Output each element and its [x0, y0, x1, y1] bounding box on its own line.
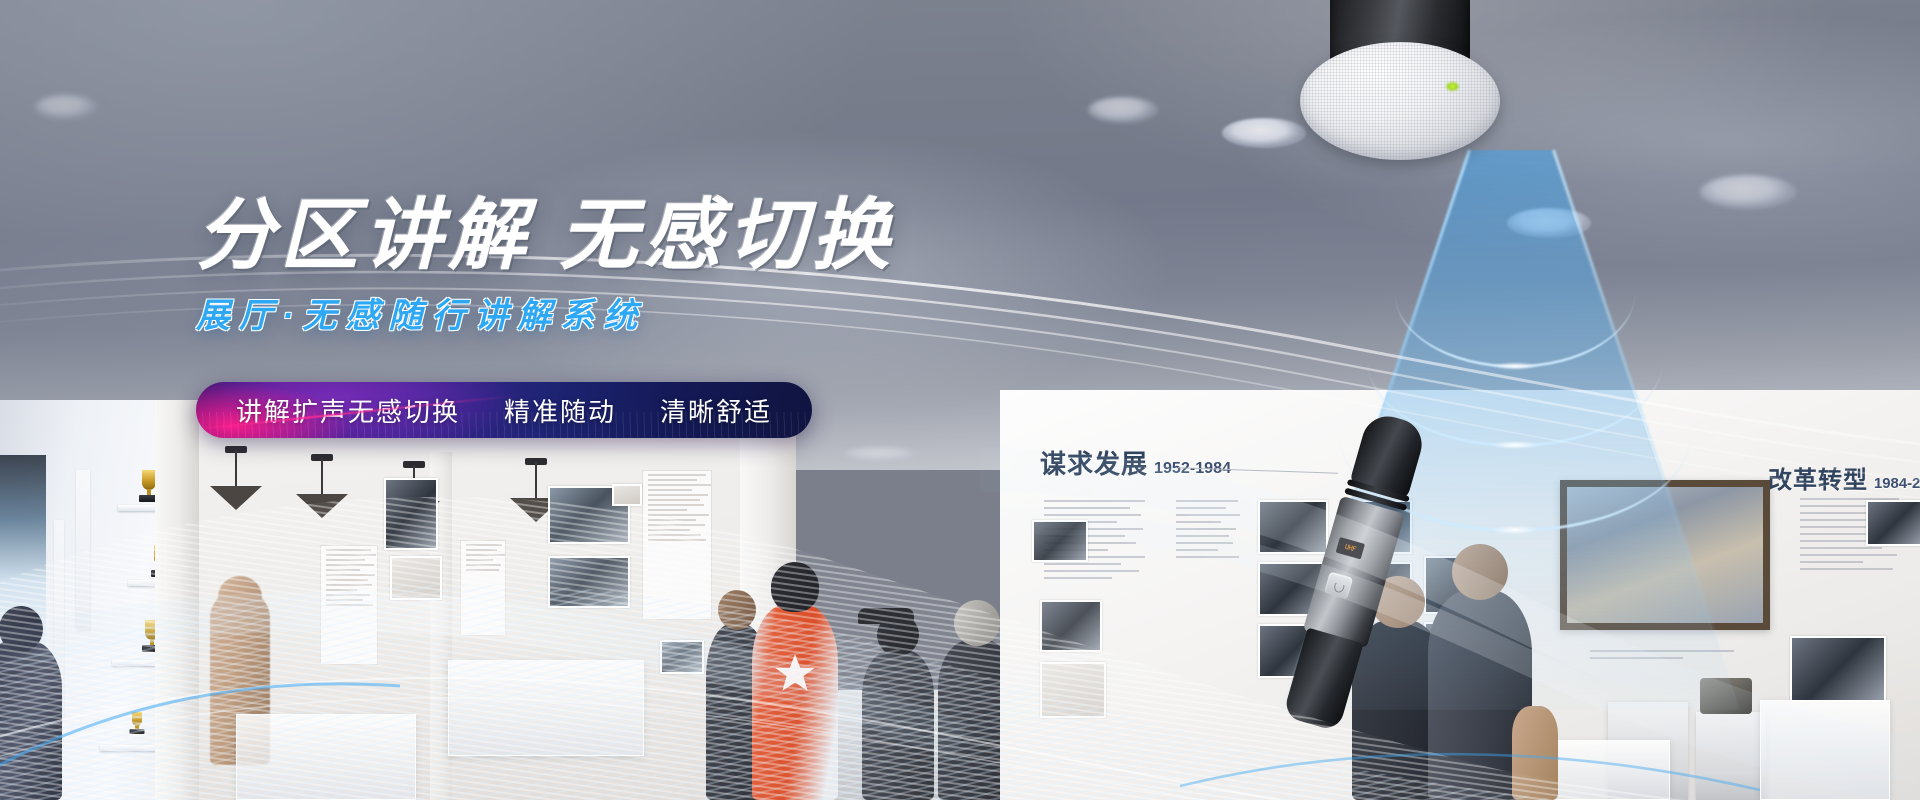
mic-handle — [1282, 628, 1363, 732]
pendant-lamp-icon — [296, 458, 348, 520]
exhibit-years-text: 1984-2010 — [1874, 476, 1920, 492]
display-case — [236, 714, 416, 800]
exhibit-photo — [612, 484, 642, 506]
exhibit-photo — [548, 556, 630, 608]
exhibit-section-title-2: 改革转型1984-2010 — [1768, 460, 1920, 495]
pendant-lamp-icon — [210, 450, 262, 512]
hero-copy: 分区讲解 无感切换 展厅·无感随行讲解系统 — [196, 196, 1096, 337]
page-title: 分区讲解 无感切换 — [196, 196, 1096, 274]
exhibit-photo — [1040, 662, 1106, 718]
exhibit-portrait — [384, 478, 438, 550]
exhibit-photo — [1040, 600, 1102, 652]
mic-body — [1303, 496, 1405, 649]
exhibit-photo — [1790, 636, 1886, 702]
speaker-grill — [1300, 42, 1500, 160]
display-case — [448, 660, 644, 756]
exhibit-section-title-1: 谋求发展1952-1984 — [1040, 444, 1231, 481]
ceiling-speaker-icon — [1300, 0, 1500, 164]
feature-item-1: 讲解扩声无感切换 — [236, 392, 460, 429]
speaker-status-led — [1446, 82, 1459, 91]
visitor-silhouette — [862, 650, 934, 800]
exhibit-photo — [390, 556, 442, 600]
hero-banner: 谋求发展1952-1984 改革转型1984-2010 — [0, 0, 1920, 800]
exhibit-photo — [660, 640, 704, 674]
shelf-divider — [76, 470, 90, 630]
exhibit-panel — [460, 540, 506, 636]
visitor-silhouette — [1512, 706, 1558, 800]
hall-pillar — [155, 400, 199, 800]
exhibit-panel — [320, 545, 378, 665]
exhibit-plinth — [1696, 712, 1766, 800]
exhibit-title-text: 改革转型 — [1768, 467, 1868, 494]
exhibit-textblock — [1176, 500, 1246, 563]
visitor-red-vest — [752, 604, 838, 800]
feature-item-3: 清晰舒适 — [660, 392, 772, 429]
star-logo-icon — [774, 652, 816, 694]
exhibit-title-text: 谋求发展 — [1040, 449, 1148, 479]
trophy-icon — [128, 712, 146, 744]
exhibit-photo — [1032, 520, 1088, 562]
exhibit-photo — [1866, 500, 1920, 546]
visitor-silhouette — [0, 640, 62, 800]
page-subtitle: 展厅·无感随行讲解系统 — [196, 288, 1096, 337]
display-case — [1760, 700, 1890, 800]
feature-pill: 讲解扩声无感切换 精准随动 清晰舒适 — [196, 382, 812, 438]
exhibit-panel — [642, 470, 712, 620]
feature-item-2: 精准随动 — [504, 392, 616, 429]
